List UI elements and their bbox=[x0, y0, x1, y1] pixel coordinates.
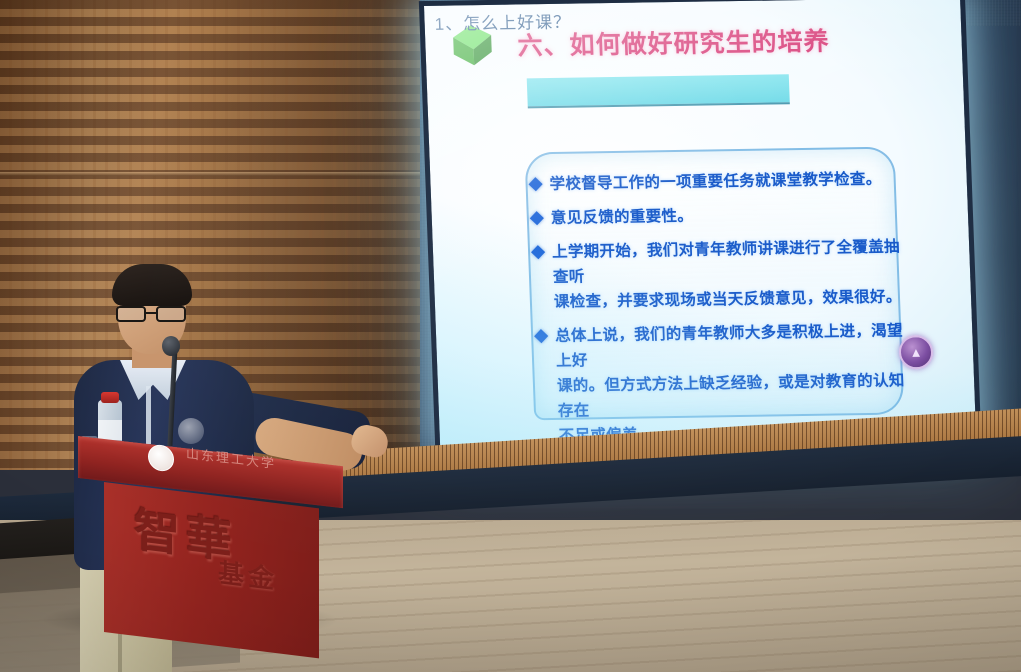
water-bottle-cap bbox=[101, 392, 119, 403]
glasses-lens-right bbox=[156, 306, 186, 322]
bullet-text: 上学期开始，我们对青年教师讲课进行了全覆盖抽查听 课检查，并要求现场或当天反馈意… bbox=[552, 234, 908, 314]
podium: 山东理工大学 智華 基金 bbox=[78, 436, 343, 626]
speaker-hair bbox=[112, 264, 192, 306]
glasses-icon bbox=[116, 306, 190, 322]
microphone-head bbox=[162, 336, 180, 356]
bullet-text: 学校督导工作的一项重要任务就课堂教学检查。 bbox=[549, 167, 882, 197]
bullet-line: 上学期开始，我们对青年教师讲课进行了全覆盖抽查听 bbox=[552, 239, 900, 286]
list-item: 上学期开始，我们对青年教师讲课进行了全覆盖抽查听 课检查，并要求现场或当天反馈意… bbox=[533, 234, 908, 315]
screen-surface: 六、如何做好研究生的培养 1、怎么上好课？ 学校督导工作的一项重要任务就课堂教学… bbox=[424, 0, 976, 446]
slide-bullet-list: 学校督导工作的一项重要任务就课堂教学检查。 意见反馈的重要性。 上学期开始，我们… bbox=[530, 166, 913, 445]
glasses-lens-left bbox=[116, 306, 146, 322]
glasses-bridge bbox=[146, 312, 156, 314]
university-seal-icon: ▲ bbox=[898, 335, 933, 370]
bullet-line: 课检查，并要求现场或当天反馈意见，效果很好。 bbox=[554, 288, 902, 310]
projection-screen: 六、如何做好研究生的培养 1、怎么上好课？ 学校督导工作的一项重要任务就课堂教学… bbox=[424, 0, 976, 446]
podium-sub-text: 基金 bbox=[218, 552, 278, 596]
bullet-text: 意见反馈的重要性。 bbox=[550, 204, 693, 231]
slide-subtitle: 1、怎么上好课？ bbox=[434, 8, 571, 35]
diamond-bullet-icon bbox=[529, 177, 543, 191]
seal-glyph: ▲ bbox=[909, 346, 922, 359]
list-item: 学校督导工作的一项重要任务就课堂教学检查。 bbox=[530, 166, 903, 197]
bullet-line: 总体上说，我们的青年教师大多是积极上进，渴望上好 bbox=[555, 322, 903, 369]
lecture-hall-photo: 六、如何做好研究生的培养 1、怎么上好课？ 学校督导工作的一项重要任务就课堂教学… bbox=[0, 0, 1021, 672]
diamond-bullet-icon bbox=[534, 329, 548, 343]
slide-subtitle-box bbox=[527, 74, 790, 108]
diamond-bullet-icon bbox=[531, 245, 545, 259]
diamond-bullet-icon bbox=[530, 211, 544, 225]
bullet-line: 课的。但方式方法上缺乏经验，或是对教育的认知存在 bbox=[557, 372, 905, 419]
list-item: 意见反馈的重要性。 bbox=[531, 200, 904, 231]
